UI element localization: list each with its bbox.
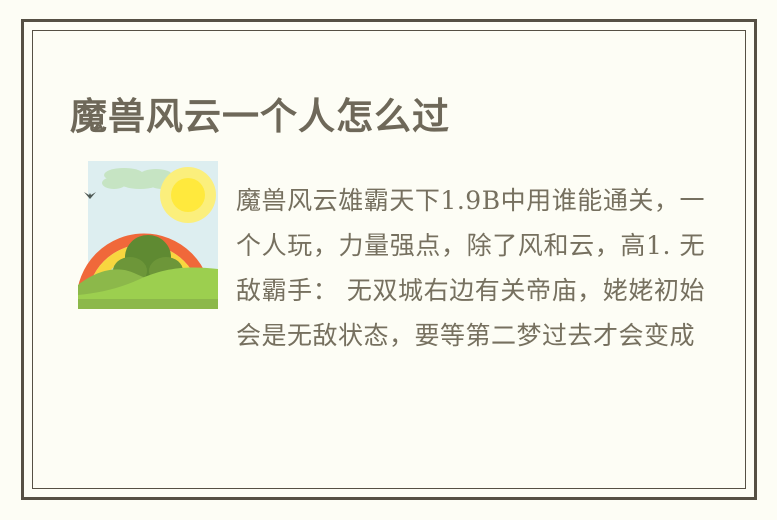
decorative-frame-inner: 魔兽风云一个人怎么过 [32, 30, 746, 489]
illustration-svg [78, 161, 218, 309]
article-body: 魔兽风云雄霸天下1.9B中用谁能通关，一个人玩，力量强点，除了风和云，高1. 无… [70, 156, 705, 468]
ground-strip [78, 299, 218, 309]
decorative-frame-outer: 魔兽风云一个人怎么过 [21, 19, 757, 500]
page-content: 魔兽风云一个人怎么过 [33, 31, 745, 488]
page-title: 魔兽风云一个人怎么过 [70, 94, 450, 140]
sun-core [171, 178, 205, 212]
document-page: 魔兽风云一个人怎么过 [0, 0, 777, 520]
article-paragraph: 魔兽风云雄霸天下1.9B中用谁能通关，一个人玩，力量强点，除了风和云，高1. 无… [236, 156, 705, 358]
landscape-rainbow-illustration [78, 161, 218, 309]
